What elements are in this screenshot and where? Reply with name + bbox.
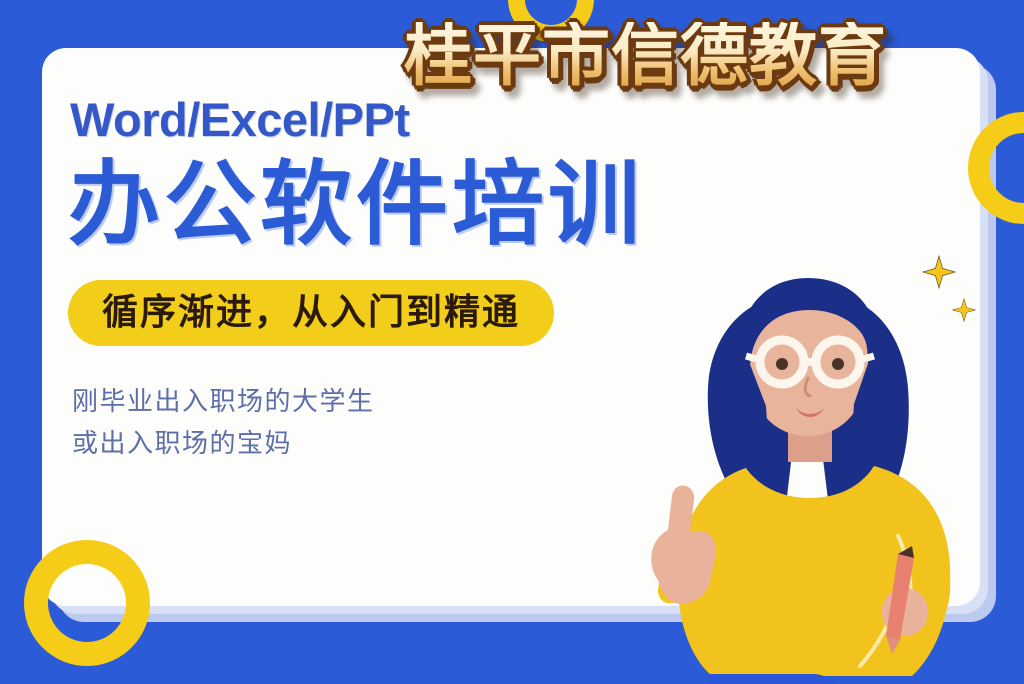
ring-decoration-bottom-left [24,540,150,666]
subtitle-english: Word/Excel/PPt [70,96,746,143]
watermark-title: 桂平市信德教育 [404,22,887,90]
woman-pointing-illustration [560,236,1024,684]
tagline-badge: 循序渐进，从入门到精通 [68,280,554,346]
poster-canvas: Word/Excel/PPt 办公软件培训 循序渐进，从入门到精通 刚毕业出入职… [0,0,1024,684]
